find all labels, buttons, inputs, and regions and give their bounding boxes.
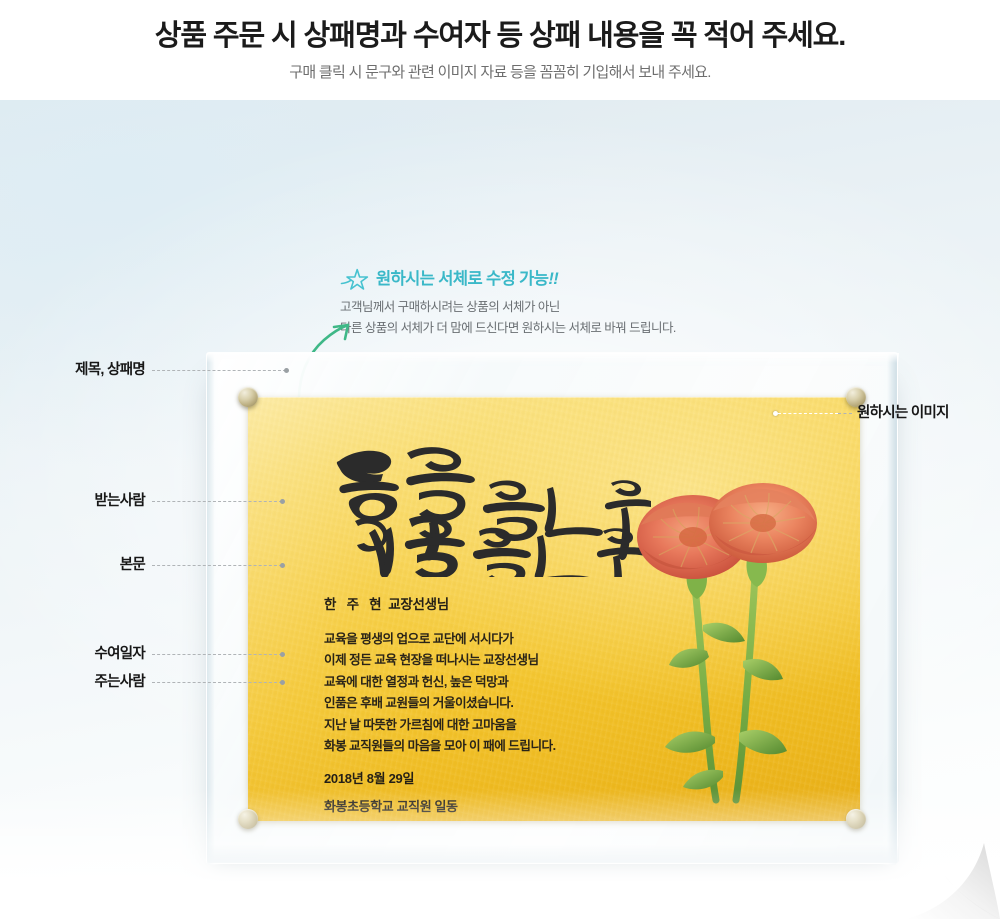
- plaque-body: 교육을 평생의 업으로 교단에 서시다가 이제 정든 교육 현장을 떠나시는 교…: [324, 629, 556, 757]
- plaque-recipient-name: 한 주 현: [324, 597, 385, 612]
- callout-line-2: 다른 상품의 서체가 더 맘에 드신다면 원하시는 서체로 바꿔 드립니다.: [340, 319, 770, 338]
- carnation-flowers-image: [603, 475, 833, 805]
- leader-dot-recipient: [280, 499, 285, 504]
- annotation-date: 수여일자: [10, 645, 145, 663]
- page-title: 상품 주문 시 상패명과 수여자 등 상패 내용을 꼭 적어 주세요.: [0, 16, 1000, 56]
- annotation-body: 본문: [10, 556, 145, 574]
- leader-line-date: [152, 654, 282, 655]
- star-icon: [340, 267, 370, 293]
- plaque-recipient-role: 교장선생님: [388, 597, 449, 612]
- page-root: 상품 주문 시 상패명과 수여자 등 상패 내용을 꼭 적어 주세요. 구매 클…: [0, 0, 1000, 919]
- leader-line-giver: [152, 682, 282, 683]
- corner-stud-top-left: [238, 387, 258, 407]
- corner-stud-bottom-left: [238, 809, 258, 829]
- callout-heading: 원하시는 서체로 수정 가능!!: [340, 266, 770, 296]
- frame-edge-left: [207, 353, 220, 865]
- annotation-image: 원하시는 이미지: [857, 404, 949, 422]
- corner-stud-bottom-right: [846, 809, 866, 829]
- callout-line-1: 고객님께서 구매하시려는 상품의 서체가 아닌: [340, 298, 770, 317]
- leader-line-image: [838, 413, 852, 414]
- product-stage: 원하시는 서체로 수정 가능!! 고객님께서 구매하시려는 상품의 서체가 아닌…: [0, 100, 1000, 919]
- plaque-body-line: 이제 정든 교육 현장을 떠나시는 교장선생님: [324, 650, 556, 671]
- plaque-recipient: 한 주 현 교장선생님: [324, 593, 449, 613]
- leader-line-recipient: [152, 501, 282, 502]
- leader-line-title: [152, 370, 286, 371]
- gold-plate: 한 주 현 교장선생님 교육을 평생의 업으로 교단에 서시다가 이제 정든 교…: [248, 397, 860, 821]
- leader-dot-date: [280, 652, 285, 657]
- callout-heading-text: 원하시는 서체로 수정 가능: [376, 270, 548, 288]
- plaque-giver: 화봉초등학교 교직원 일동: [324, 796, 458, 815]
- font-change-callout: 원하시는 서체로 수정 가능!! 고객님께서 구매하시려는 상품의 서체가 아닌…: [340, 266, 770, 338]
- frame-edge-top: [207, 353, 899, 363]
- page-subtitle: 구매 클릭 시 문구와 관련 이미지 자료 등을 꼼꼼히 기입해서 보내 주세요…: [0, 62, 1000, 84]
- frame-edge-bottom: [207, 845, 899, 863]
- callout-heading-exclaim: !!: [548, 270, 558, 288]
- leader-dot-title: [284, 368, 289, 373]
- leader-line-body: [152, 565, 282, 566]
- annotation-giver: 주는사람: [10, 673, 145, 691]
- plaque-title-calligraphy: [321, 437, 651, 577]
- annotation-title: 제목, 상패명: [10, 361, 145, 379]
- award-plaque: 한 주 현 교장선생님 교육을 평생의 업으로 교단에 서시다가 이제 정든 교…: [206, 352, 898, 864]
- frame-edge-right: [881, 353, 897, 865]
- plaque-award-date: 2018년 8월 29일: [324, 768, 414, 787]
- leader-dot-body: [280, 563, 285, 568]
- plaque-body-line: 교육을 평생의 업으로 교단에 서시다가: [324, 629, 556, 650]
- annotation-recipient: 받는사람: [10, 492, 145, 510]
- plaque-body-line: 인품은 후배 교원들의 거울이셨습니다.: [324, 693, 556, 714]
- page-header: 상품 주문 시 상패명과 수여자 등 상패 내용을 꼭 적어 주세요. 구매 클…: [0, 0, 1000, 100]
- plaque-body-line: 화봉 교직원들의 마음을 모아 이 패에 드립니다.: [324, 736, 556, 757]
- plaque-body-line: 지난 날 따뜻한 가르침에 대한 고마움을: [324, 715, 556, 736]
- plaque-body-line: 교육에 대한 열정과 헌신, 높은 덕망과: [324, 672, 556, 693]
- leader-line-image-white: [778, 413, 838, 414]
- leader-dot-giver: [280, 680, 285, 685]
- acrylic-frame: 한 주 현 교장선생님 교육을 평생의 업으로 교단에 서시다가 이제 정든 교…: [206, 352, 898, 864]
